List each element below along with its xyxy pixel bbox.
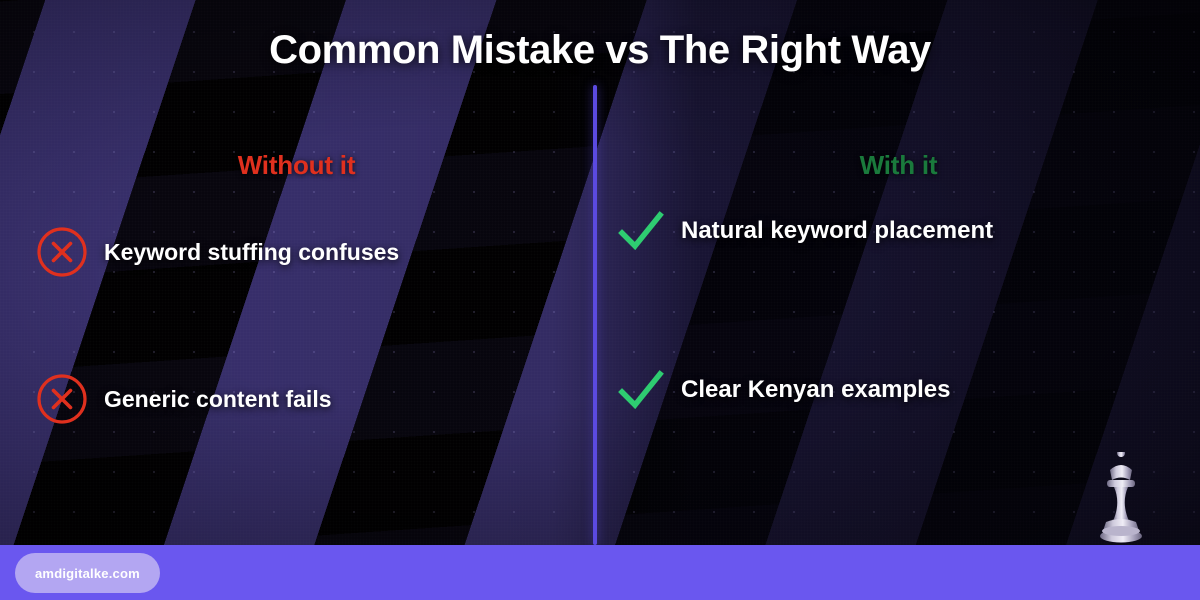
- brand-badge[interactable]: amdigitalke.com: [15, 553, 160, 593]
- list-item: Natural keyword placement: [617, 209, 993, 253]
- list-item: Clear Kenyan examples: [617, 368, 950, 412]
- circle-x-icon: [36, 226, 88, 278]
- list-item: Generic content fails: [36, 373, 332, 425]
- column-heading-with: With it: [597, 150, 1200, 181]
- check-icon: [617, 368, 665, 412]
- list-item-label: Clear Kenyan examples: [681, 376, 950, 404]
- page-title: Common Mistake vs The Right Way: [0, 28, 1200, 73]
- footer-bar: amdigitalke.com: [0, 545, 1200, 600]
- chess-queen-icon: [1092, 452, 1150, 544]
- slide-canvas: Common Mistake vs The Right Way Without …: [0, 0, 1200, 600]
- column-with: With it Natural keyword placement: [597, 150, 1200, 181]
- column-without: Without it Keyword stuffing confuses: [0, 150, 593, 181]
- list-item-label: Keyword stuffing confuses: [104, 239, 399, 266]
- list-item: Keyword stuffing confuses: [36, 226, 399, 278]
- circle-x-icon: [36, 373, 88, 425]
- column-heading-without: Without it: [0, 150, 593, 181]
- check-icon: [617, 209, 665, 253]
- list-item-label: Natural keyword placement: [681, 217, 993, 245]
- list-item-label: Generic content fails: [104, 386, 332, 413]
- brand-label: amdigitalke.com: [35, 566, 140, 581]
